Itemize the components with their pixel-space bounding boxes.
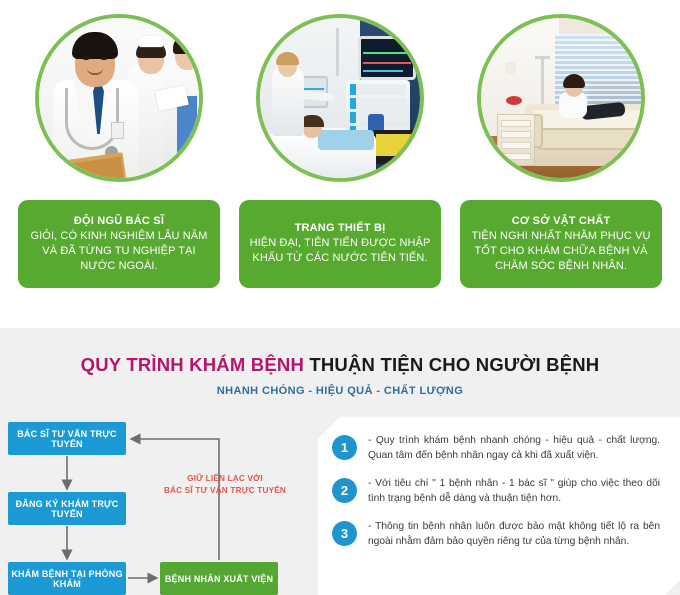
process-flowchart: BÁC SĨ TƯ VẤN TRỰC TUYẾN ĐĂNG KÝ KHÁM TR…: [0, 417, 312, 595]
process-section: QUY TRÌNH KHÁM BỆNH THUẬN TIỆN CHO NGƯỜI…: [0, 328, 680, 595]
patient-room-illustration: [481, 18, 641, 178]
benefit-number-badge: 1: [332, 435, 357, 460]
flow-step-clinic-exam[interactable]: KHÁM BỆNH TẠI PHÒNG KHÁM: [8, 562, 126, 595]
section-heading: QUY TRÌNH KHÁM BỆNH THUẬN TIỆN CHO NGƯỜI…: [0, 354, 680, 397]
doctors-team-photo: [35, 14, 203, 182]
benefit-item: 3 - Thông tin bệnh nhân luôn được bảo mậ…: [332, 519, 660, 549]
flow-step-online-register[interactable]: ĐĂNG KÝ KHÁM TRỰC TUYẾN: [8, 492, 126, 525]
benefit-number-badge: 3: [332, 521, 357, 546]
icu-equipment-photo: [256, 14, 424, 182]
page-title: QUY TRÌNH KHÁM BỆNH THUẬN TIỆN CHO NGƯỜI…: [0, 354, 680, 376]
page-subtitle: NHANH CHÓNG - HIỆU QUẢ - CHẤT LƯỢNG: [0, 385, 680, 397]
feature-card-equipment: TRANG THIẾT BỊ HIỆN ĐẠI, TIÊN TIẾN ĐƯỢC …: [239, 0, 441, 328]
patient-room-photo: [477, 14, 645, 182]
icu-equipment-illustration: [260, 18, 420, 178]
flow-step-online-consult[interactable]: BÁC SĨ TƯ VẤN TRỰC TUYẾN: [8, 422, 126, 455]
benefits-panel: 1 - Quy trình khám bệnh nhanh chóng - hi…: [318, 417, 680, 595]
feature-card-facility: CƠ SỞ VẬT CHẤT TIỆN NGHI NHẤT NHẰM PHỤC …: [460, 0, 662, 328]
feature-title: ĐỘI NGŨ BÁC SĨ: [27, 214, 211, 229]
process-content: BÁC SĨ TƯ VẤN TRỰC TUYẾN ĐĂNG KÝ KHÁM TR…: [0, 417, 680, 595]
benefit-item: 1 - Quy trình khám bệnh nhanh chóng - hi…: [332, 433, 660, 463]
feature-body: GIỎI, CÓ KINH NGHIỆM LÂU NĂM VÀ ĐÃ TỪNG …: [27, 229, 211, 274]
page-title-rest: THUẬN TIỆN CHO NGƯỜI BỆNH: [309, 354, 599, 375]
features-row: ĐỘI NGŨ BÁC SĨ GIỎI, CÓ KINH NGHIỆM LÂU …: [0, 0, 680, 328]
page-title-highlight: QUY TRÌNH KHÁM BỆNH: [81, 354, 310, 375]
flowchart-note: GIỮ LIÊN LẠC VỚI BÁC SĨ TƯ VẤN TRỰC TUYẾ…: [150, 473, 300, 497]
feature-body: TIỆN NGHI NHẤT NHẰM PHỤC VỤ TỐT CHO KHÁM…: [469, 229, 653, 274]
feature-card-doctors: ĐỘI NGŨ BÁC SĨ GIỎI, CÓ KINH NGHIỆM LÂU …: [18, 0, 220, 328]
feature-box-doctors: ĐỘI NGŨ BÁC SĨ GIỎI, CÓ KINH NGHIỆM LÂU …: [18, 200, 220, 288]
page-root: ĐỘI NGŨ BÁC SĨ GIỎI, CÓ KINH NGHIỆM LÂU …: [0, 0, 680, 595]
benefit-text: - Thông tin bệnh nhân luôn được bảo mật …: [368, 519, 660, 549]
flow-step-discharge[interactable]: BỆNH NHÂN XUẤT VIỆN: [160, 562, 278, 595]
benefit-text: - Quy trình khám bệnh nhanh chóng - hiệu…: [368, 433, 660, 463]
benefit-item: 2 - Với tiêu chí " 1 bệnh nhân - 1 bác s…: [332, 476, 660, 506]
features-section: ĐỘI NGŨ BÁC SĨ GIỎI, CÓ KINH NGHIỆM LÂU …: [0, 0, 680, 328]
flowchart-note-line1: GIỮ LIÊN LẠC VỚI: [150, 473, 300, 485]
benefit-number-badge: 2: [332, 478, 357, 503]
feature-box-facility: CƠ SỞ VẬT CHẤT TIỆN NGHI NHẤT NHẰM PHỤC …: [460, 200, 662, 288]
benefit-text: - Với tiêu chí " 1 bệnh nhân - 1 bác sĩ …: [368, 476, 660, 506]
feature-body: HIỆN ĐẠI, TIÊN TIẾN ĐƯỢC NHẬP KHẨU TỪ CÁ…: [248, 236, 432, 266]
flowchart-note-line2: BÁC SĨ TƯ VẤN TRỰC TUYẾN: [150, 485, 300, 497]
feature-title: TRANG THIẾT BỊ: [248, 221, 432, 236]
doctors-team-illustration: [39, 18, 199, 178]
feature-title: CƠ SỞ VẬT CHẤT: [469, 214, 653, 229]
feature-box-equipment: TRANG THIẾT BỊ HIỆN ĐẠI, TIÊN TIẾN ĐƯỢC …: [239, 200, 441, 288]
